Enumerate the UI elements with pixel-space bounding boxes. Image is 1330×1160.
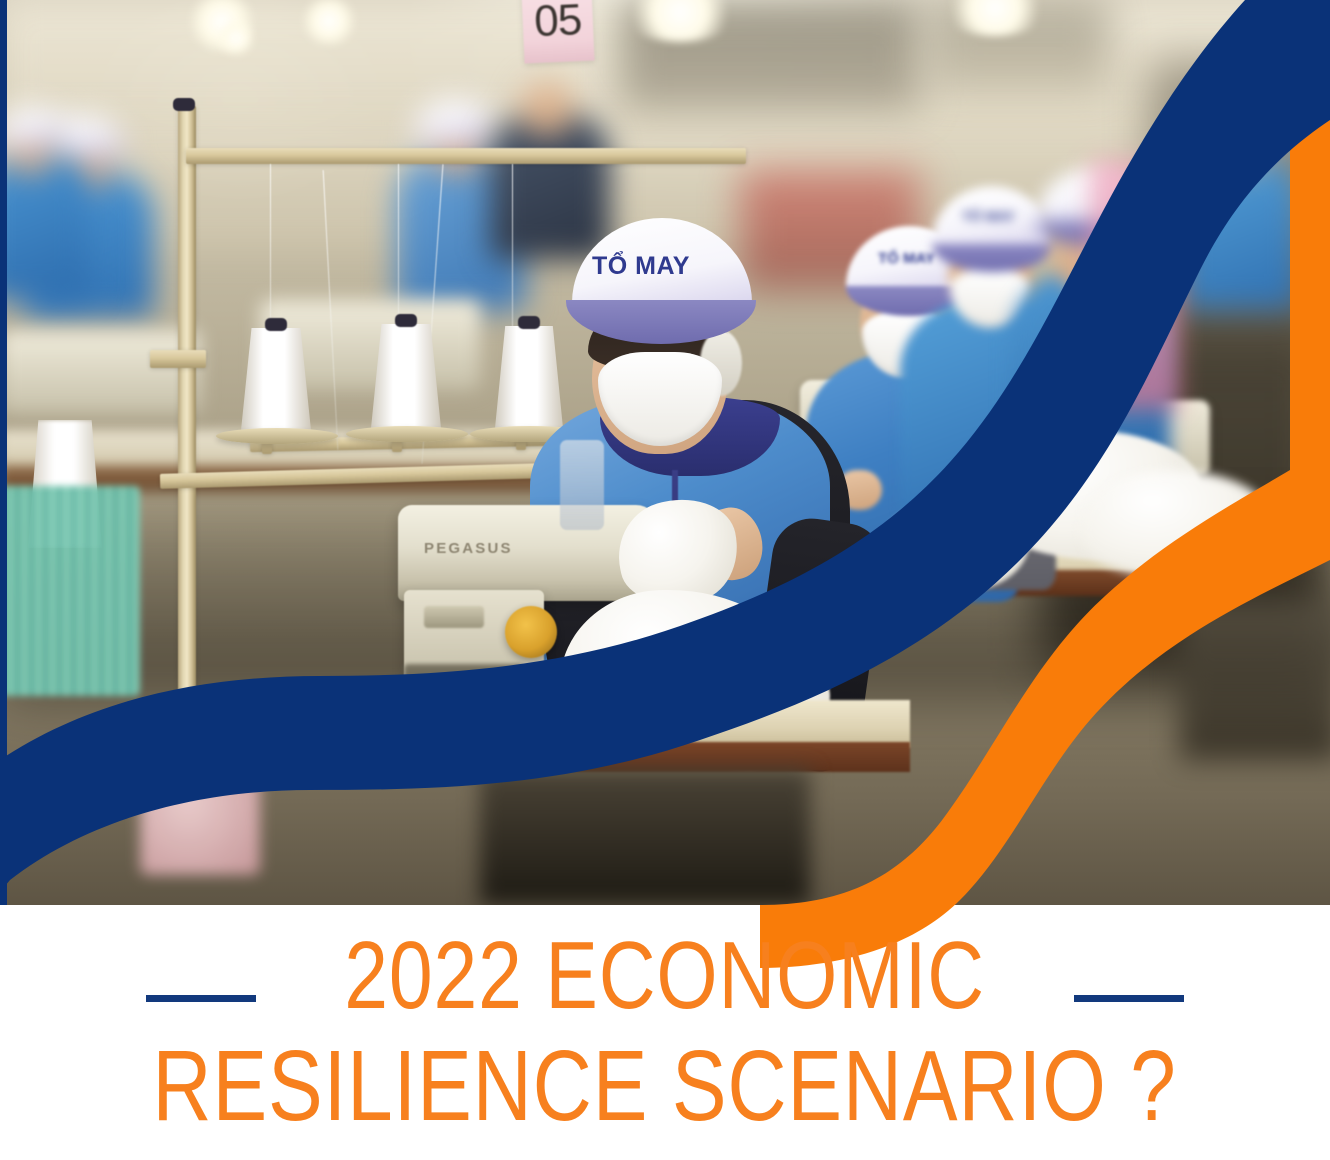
cover-photo: 05 xyxy=(0,0,1330,905)
pink-spool-lower-left xyxy=(140,770,260,875)
worker-third-cap-text: TỔ MAY xyxy=(962,208,1015,224)
thread-cone-3 xyxy=(494,326,564,438)
green-storage-basket xyxy=(0,486,140,696)
thread-cone-cap-3 xyxy=(518,316,540,329)
background-machine-2 xyxy=(0,330,200,414)
thread-cone-cap-1 xyxy=(265,318,287,331)
fabric-pile-mid-right xyxy=(880,500,1030,590)
station-sign: 05 xyxy=(521,0,594,63)
thread-cone-1 xyxy=(240,328,312,440)
cover-page: 05 xyxy=(0,0,1330,1160)
thread-cone-base-1 xyxy=(216,428,338,444)
cover-title: 2022 ECONOMIC RESILIENCE SCENARIO ? xyxy=(0,930,1330,1132)
thread-rack-top-bar xyxy=(186,148,746,164)
thread-cone-cap-top xyxy=(173,98,195,111)
work-table-top xyxy=(150,700,910,748)
sewing-machine-needle-guard xyxy=(560,440,604,530)
worker-foreground-cap-text: TỔ MAY xyxy=(592,252,690,281)
thread-cone-2 xyxy=(370,324,442,438)
title-line-one: 2022 ECONOMIC xyxy=(345,928,986,1024)
station-sign-number: 05 xyxy=(522,0,594,48)
photo-left-edge-stripe xyxy=(0,0,7,905)
right-basket-shadow xyxy=(1180,600,1330,760)
ceiling-lamp-2 xyxy=(216,20,256,56)
thread-rack-post xyxy=(178,106,196,766)
fabric-pile-far-right xyxy=(1080,470,1270,580)
work-table-edge xyxy=(150,742,910,772)
worker-second-cap-text: TỔ MAY xyxy=(878,250,935,267)
title-rule-right xyxy=(1074,995,1184,1002)
thread-cone-cap-2 xyxy=(395,314,417,327)
thread-cone-base-2 xyxy=(346,426,468,442)
thread-rack-bracket-upper xyxy=(150,350,206,368)
title-line-one-row: 2022 ECONOMIC xyxy=(0,930,1330,1022)
sewing-machine-handwheel xyxy=(505,606,557,658)
sewing-machine-arm xyxy=(424,606,484,628)
under-table-shadow xyxy=(480,770,810,905)
background-worker-pink xyxy=(1090,160,1180,410)
title-line-two-row: RESILIENCE SCENARIO ? xyxy=(0,1036,1330,1132)
title-rule-left xyxy=(146,995,256,1002)
sewing-machine-brand-label: PEGASUS xyxy=(424,540,544,557)
title-line-two: RESILIENCE SCENARIO ? xyxy=(153,1036,1177,1136)
